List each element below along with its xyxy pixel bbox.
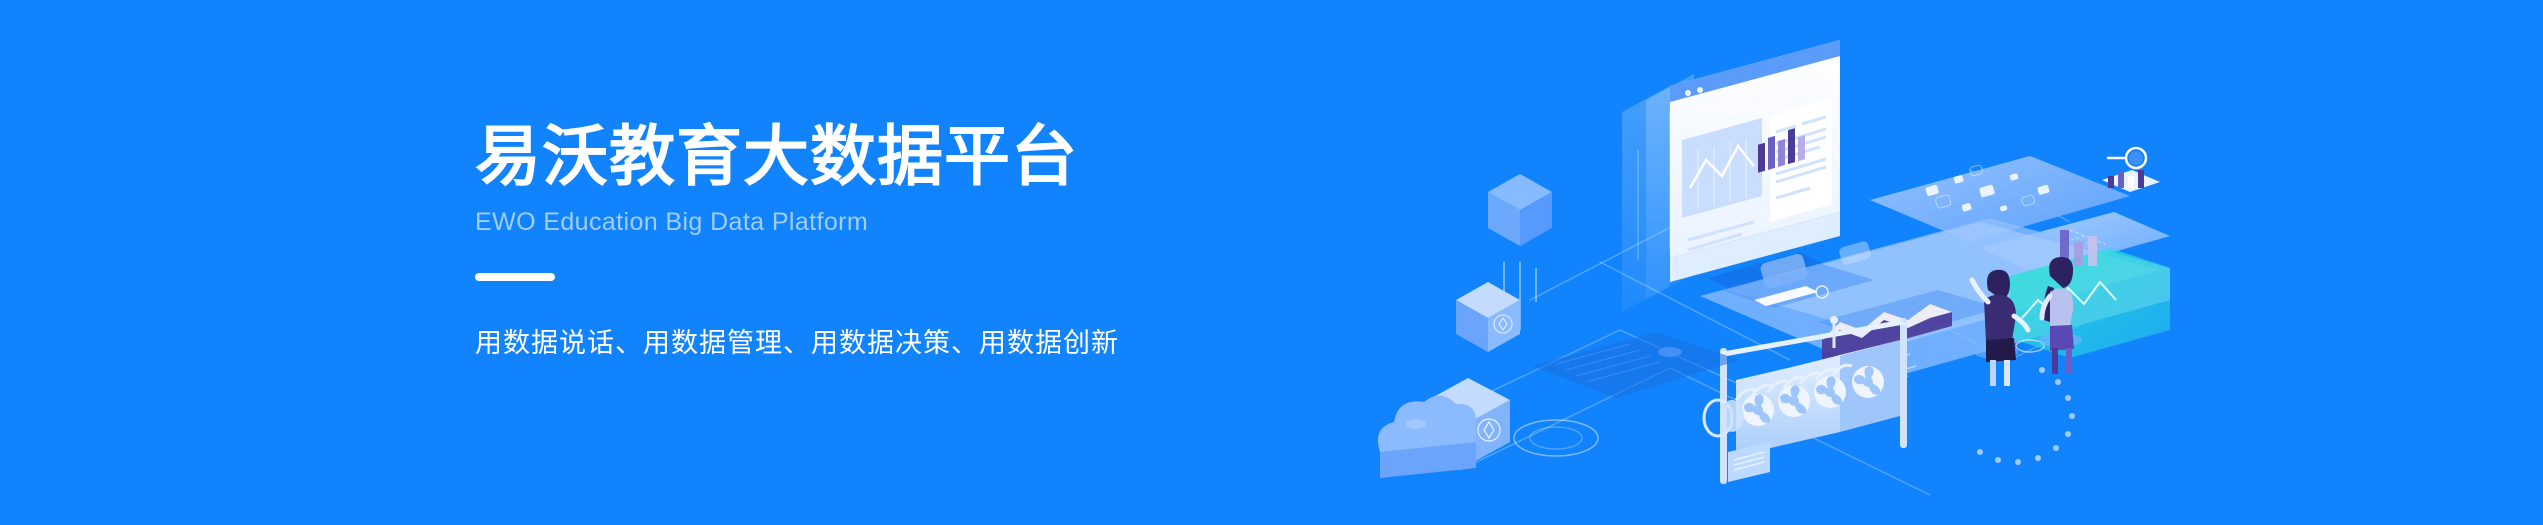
- banner-tagline: 用数据说话、用数据管理、用数据决策、用数据创新: [475, 321, 1235, 360]
- browser-window: [1670, 40, 1840, 300]
- isometric-illustration: [1370, 0, 2170, 525]
- fan-icon: [1852, 366, 1884, 398]
- grid-plate: [1532, 332, 1740, 398]
- banner-text-block: 易沃教育大数据平台 EWO Education Big Data Platfor…: [475, 118, 1235, 360]
- title-divider: [475, 273, 555, 281]
- search-icon: [2108, 148, 2146, 168]
- fan-icon: [1814, 376, 1846, 408]
- cube-node: [1456, 282, 1520, 352]
- cloud-icon: [1378, 395, 1476, 478]
- hero-banner: 易沃教育大数据平台 EWO Education Big Data Platfor…: [0, 0, 2543, 525]
- fan-icon: [1742, 394, 1774, 426]
- page-subtitle: EWO Education Big Data Platform: [475, 208, 1235, 237]
- fan-icon: [1778, 385, 1810, 417]
- page-title: 易沃教育大数据平台: [475, 118, 1235, 196]
